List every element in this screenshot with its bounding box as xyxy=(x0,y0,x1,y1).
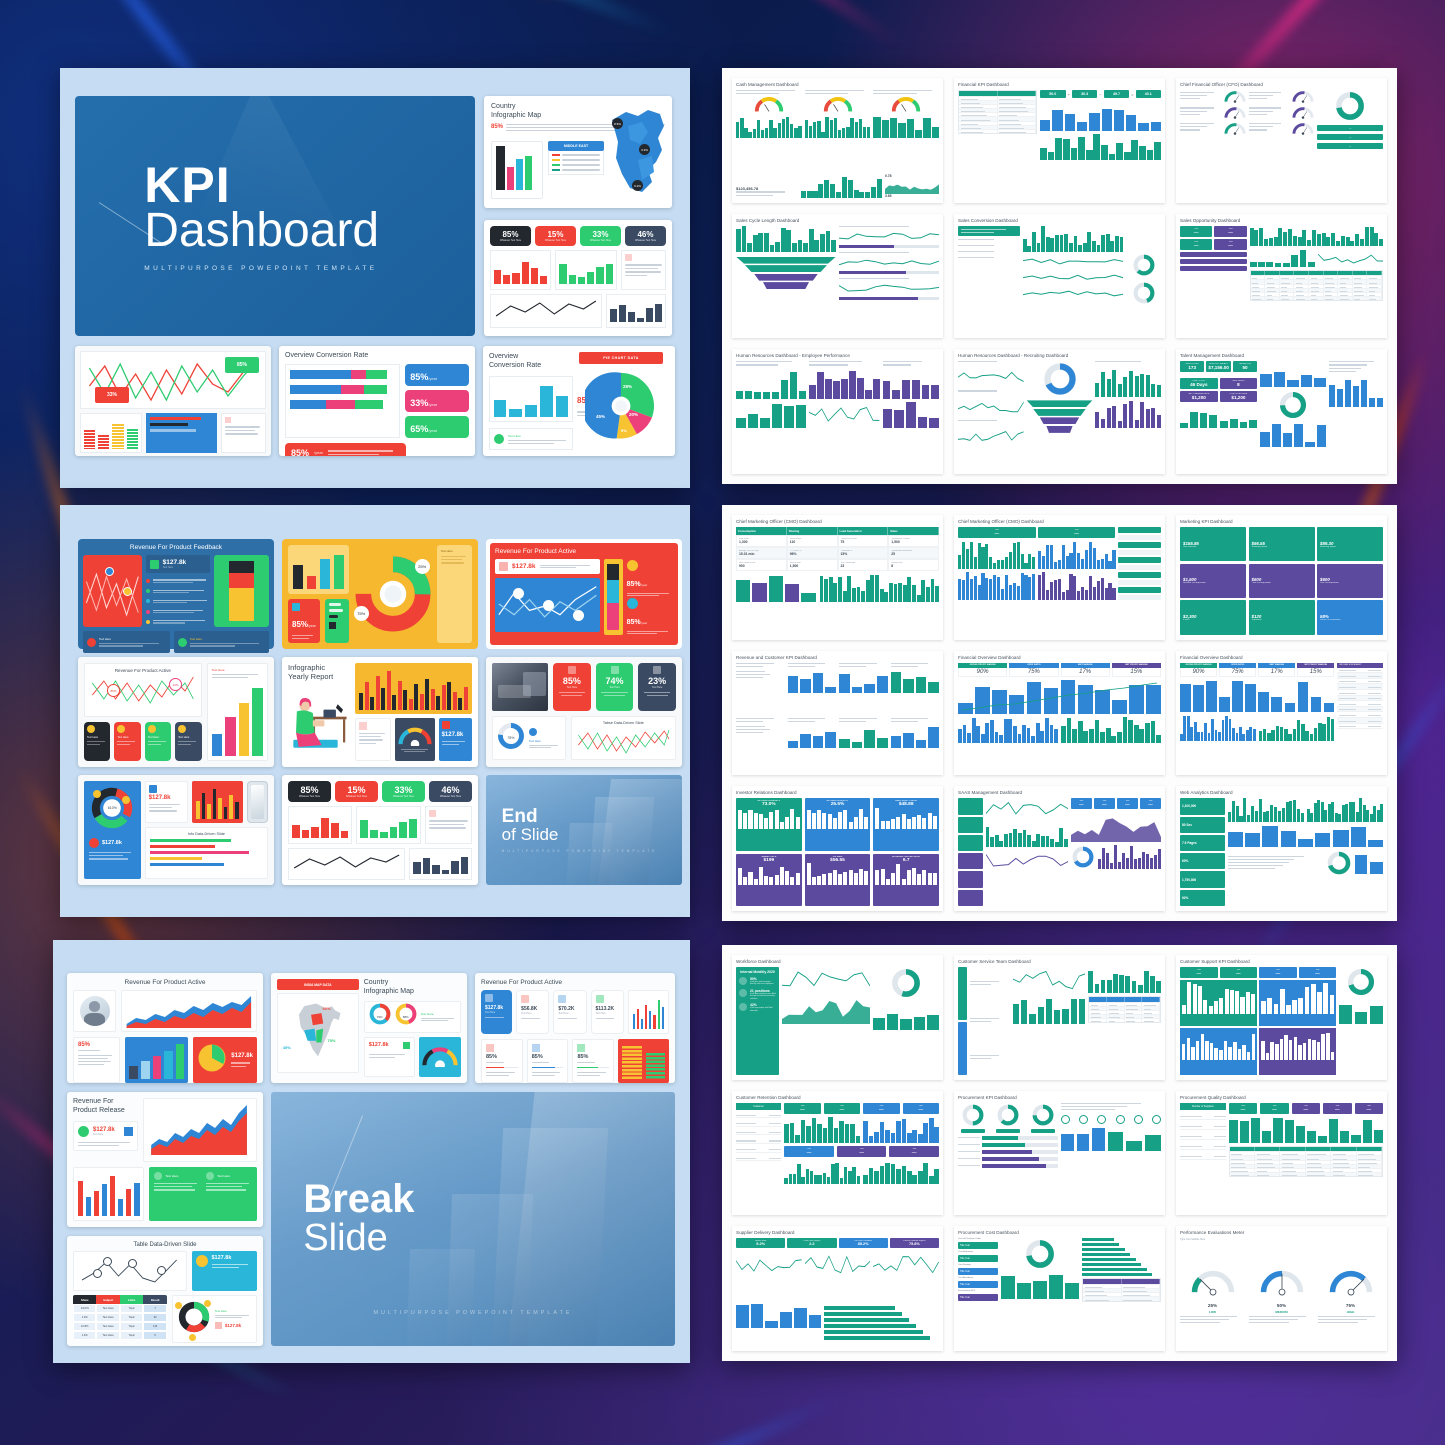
title-dashboard: Dashboard xyxy=(144,206,475,256)
slide-country-infographic-map-india[interactable]: INDIA MAP DATA 60% 75% 45% Count xyxy=(271,973,467,1083)
cmo-cell-value: 15% xyxy=(841,552,886,556)
kpi-chip[interactable]: MONTHLY SALARY$7,156.00 xyxy=(1206,361,1230,372)
slide-percent-cards-2[interactable]: 85% Whatever Text Here 15% Whatever Text… xyxy=(282,775,478,885)
equation-value: 30.3 xyxy=(1072,90,1097,98)
conversion-card-value: 33% xyxy=(410,398,428,408)
marketing-stat-label: 6 mnth xyxy=(1183,619,1243,621)
amount-value: $127.8k xyxy=(212,1255,254,1261)
funnel-chart xyxy=(1027,400,1093,433)
panel-colorful-slides: Revenue For Product Feedback $127.8k Tex… xyxy=(60,505,690,917)
conversion-card-value: 85% xyxy=(410,372,428,382)
kpi-chip[interactable]: Text— xyxy=(1140,798,1161,809)
slide-revenue-product-feedback[interactable]: Revenue For Product Feedback $127.8k Tex… xyxy=(78,539,274,649)
bar-chart xyxy=(1260,423,1326,447)
investor-kpi-card[interactable]: RETURN ON EQUITY25.5% xyxy=(805,798,871,850)
kpi-chip[interactable]: Text— xyxy=(837,1146,887,1157)
table-cell: 32 xyxy=(143,1313,166,1322)
dashboard-title: Chief Marketing Officer (CMO) Dashboard xyxy=(736,519,939,524)
amount-card: $127.8k xyxy=(495,559,600,574)
amount-sub: Text Here xyxy=(163,566,187,569)
dashboard-title: Sales Cycle Length Dashboard xyxy=(736,218,939,223)
financial-kpi[interactable]: OPEX RATIO75% xyxy=(1219,663,1256,677)
kpi-chip[interactable]: Text— xyxy=(1071,798,1092,809)
data-table xyxy=(958,90,1037,134)
dashboard-card[interactable]: Workforce DashboardInternal Mobility 202… xyxy=(732,955,943,1080)
bar-chart xyxy=(1329,377,1383,407)
india-label-75: 75% xyxy=(327,1038,335,1043)
kpi-chip-value: — xyxy=(1301,971,1335,976)
map-pin-1: 8.5% xyxy=(612,118,623,129)
line-chart xyxy=(288,848,405,880)
kpi-chip[interactable]: NET TRAINING DAYS$1,200 xyxy=(1180,391,1218,402)
kpi-chip[interactable]: VACANCIES50 xyxy=(1233,361,1257,372)
donut-value: 88% xyxy=(395,1003,417,1030)
info-card-title: Text Here xyxy=(178,736,198,739)
data-table xyxy=(1088,996,1161,1023)
dashboard-title: Human Resources Dashboard - Recruiting D… xyxy=(958,353,1161,358)
kpi-chip-value: 50 xyxy=(1235,365,1255,370)
financial-kpi[interactable]: GROSS PROFIT MARGIN90% xyxy=(958,663,1007,677)
kpi-chip[interactable]: Text— xyxy=(784,1146,834,1157)
equation-operator: = xyxy=(1131,92,1133,97)
progress-bar xyxy=(839,245,939,248)
conversion-card-value: 65% xyxy=(410,424,428,434)
kpi-chip[interactable]: Text— xyxy=(889,1146,939,1157)
stat-card[interactable]: 23% Text Here xyxy=(638,663,676,711)
text-lines xyxy=(1329,361,1383,373)
financial-kpi-value: 90% xyxy=(958,668,1007,677)
stat-sub: Text Here xyxy=(556,686,588,689)
panel-dashboards-teal: Cash Management Dashboard$123,456.780.78… xyxy=(722,68,1397,484)
cmo-table-header: Consumption xyxy=(736,527,787,535)
percent-value: 85% xyxy=(577,1054,609,1060)
procurement-cost-label: Cost Savings xyxy=(958,1264,998,1266)
dashboard-title: Cash Management Dashboard xyxy=(736,82,939,87)
dashboard-card[interactable]: Talent Management DashboardEMPLOYEES173M… xyxy=(1176,349,1387,474)
dashboard-card[interactable]: Sales Cycle Length Dashboard xyxy=(732,214,943,339)
kpi-chip[interactable]: Text— xyxy=(1260,1103,1288,1114)
break-subtitle: Slide xyxy=(303,1219,675,1259)
bar-chart xyxy=(1355,852,1383,874)
percent-card-sub: Whatever Text Here xyxy=(537,239,574,242)
yellow-note-card: Text Here xyxy=(437,545,472,643)
bar-chart xyxy=(736,574,816,602)
bar-chart xyxy=(1013,996,1086,1024)
kpi-chip[interactable]: Text— xyxy=(1094,798,1115,809)
info-card[interactable]: Text Here xyxy=(145,722,171,761)
india-label-60: 60% xyxy=(323,1006,331,1011)
kpi-chip-value: — xyxy=(1182,971,1216,976)
slide-info-data-driven[interactable]: 610% $127.8k $127.8k xyxy=(78,775,274,885)
dashboard-title: SAAS Management Dashboard xyxy=(958,790,1161,795)
kpi-chip-value: — xyxy=(826,1107,858,1112)
dashboard-card[interactable]: Supplier Delivery DashboardDefect Rate5.… xyxy=(732,1226,943,1351)
info-card[interactable]: Text Here xyxy=(84,722,110,761)
chart-note: Text Here xyxy=(212,668,263,672)
investor-kpi-card[interactable]: RETURN ON ASSETS73.0% xyxy=(736,798,802,850)
kpi-chip[interactable]: Text— xyxy=(903,1103,939,1114)
marketing-stat-label: Total Revenue xyxy=(1183,546,1243,548)
slide-percent-cards[interactable]: 85% Whatever Text Here 15% Whatever Text… xyxy=(484,220,672,336)
percent-value: 85% xyxy=(627,581,641,588)
slide-revenue-product-active-red[interactable]: Revenue For Product Active $127.8k xyxy=(486,539,682,649)
text-lines xyxy=(970,1055,1010,1061)
pie-amount-card: $127.8k xyxy=(193,1037,257,1083)
web-stat: 60% xyxy=(1180,853,1225,869)
slide-heading: OverviewConversion Rate xyxy=(489,352,579,370)
kpi-chip[interactable]: Text— xyxy=(863,1103,899,1114)
amount-value: $127.8k xyxy=(102,840,122,846)
blue-info-card xyxy=(146,413,218,453)
gauge-chart xyxy=(1292,90,1314,103)
bar-chart xyxy=(788,671,837,693)
meter-subtitle: Type Your Subtitle Here xyxy=(1180,1238,1383,1241)
cmo-cell-value: 25 xyxy=(891,552,936,556)
marketing-stat-card[interactable]: $600Cost Per Acquisition xyxy=(1317,564,1383,598)
kpi-chip[interactable]: Text— xyxy=(1180,239,1212,250)
dashboard-card[interactable]: Revenue and Customer KPI Dashboard xyxy=(732,651,943,776)
marketing-stat-card[interactable]: $155.85Total Revenue xyxy=(1180,527,1246,561)
dashboard-card[interactable]: Human Resources Dashboard - Employee Per… xyxy=(732,349,943,474)
amount-value: $127.8k xyxy=(442,732,469,738)
line-chart xyxy=(873,1251,939,1277)
table-cell: 1/1/2% xyxy=(73,1304,96,1313)
kpi-chip[interactable]: EMPLOYEES173 xyxy=(1180,361,1204,372)
slide-heading: Revenue For Product Active xyxy=(73,979,257,986)
marketing-stat-card[interactable]: $1,500Revenue Per Acquisition xyxy=(1180,564,1246,598)
kpi-chip-value: — xyxy=(1119,802,1136,807)
percent-card[interactable]: 85% Whatever Text Here xyxy=(288,781,331,802)
kpi-sub: Text Here xyxy=(558,1012,581,1015)
dashboard-title: Revenue and Customer KPI Dashboard xyxy=(736,655,939,660)
kpi-chip[interactable]: Text— xyxy=(1323,1103,1351,1114)
percent-card[interactable]: 46% Whatever Text Here xyxy=(625,226,666,246)
table-column-header: Subject xyxy=(96,1295,119,1304)
bar-chart xyxy=(807,863,869,885)
marketing-stat-card[interactable]: $120Acquisition xyxy=(1249,600,1315,634)
bar-chart xyxy=(1040,101,1161,131)
cmo-cell-value: 110 xyxy=(790,540,835,544)
dashboard-card[interactable]: Sales Opportunity DashboardText—Text—Tex… xyxy=(1176,214,1387,339)
slide-overview-conversion-rate-bars[interactable]: Overview Conversion Rate 85%/year 33%/ye xyxy=(279,346,475,456)
bar-chart xyxy=(1180,680,1334,712)
kpi-chip[interactable]: Text— xyxy=(1259,967,1297,978)
conversion-card[interactable]: 85%/year xyxy=(405,364,469,386)
dashboard-title: Procurement Quality Dashboard xyxy=(1180,1095,1383,1100)
dashboard-title: Workforce Dashboard xyxy=(736,959,939,964)
financial-kpi-value: 75% xyxy=(1219,668,1256,677)
bar-chart xyxy=(958,717,1058,743)
slide-revenue-active-multi[interactable]: Revenue For Product Active $127.8k Text … xyxy=(475,973,675,1083)
slide-table-data-driven-photo[interactable]: 85% Text Here 74% Text Here 23% Text Her… xyxy=(486,657,682,767)
dashboard-card[interactable]: Cash Management Dashboard$123,456.780.78… xyxy=(732,78,943,203)
bar-chart xyxy=(801,174,882,198)
table-row: 1.0%Text HereTopic32 xyxy=(73,1313,167,1322)
dashboard-title: Human Resources Dashboard - Employee Per… xyxy=(736,353,939,358)
text-lines xyxy=(1249,92,1290,101)
stat-sub: Text Here xyxy=(599,686,631,689)
financial-kpi[interactable]: NET PROFIT MARGIN15% xyxy=(1112,663,1161,677)
marketing-stat-card[interactable]: $89.30Marketing Spend xyxy=(1317,527,1383,561)
financial-kpi[interactable]: EBIT MARGIN17% xyxy=(1061,663,1110,677)
percent-col: 85% xyxy=(527,1039,569,1083)
area-chart xyxy=(885,178,939,194)
percent-card-value: 15% xyxy=(337,785,376,795)
yellow-donut-chart: 25% 75% xyxy=(354,545,432,643)
dashboard-card[interactable]: Customer Retention DashboardCustomerText… xyxy=(732,1091,943,1216)
supplier-kpi[interactable]: Defects without Impact75.8% xyxy=(890,1238,939,1248)
info-card[interactable]: Text Here xyxy=(114,722,140,761)
progress-bar xyxy=(982,1157,1058,1161)
procurement-cost-label: Cost Avoidance xyxy=(958,1277,998,1279)
kpi-chip[interactable]: Text— xyxy=(1214,226,1246,237)
slide-overview-conversion-rate-pie[interactable]: OverviewConversion Rate 85%/year Text He… xyxy=(483,346,675,456)
note-card xyxy=(355,718,390,761)
procurement-cost-row[interactable]: Title Year xyxy=(958,1242,998,1249)
kpi-chip-value: — xyxy=(1040,531,1114,536)
equation-value: 50.0 xyxy=(1040,90,1065,98)
dashboard-card[interactable]: Customer Service Team Dashboard xyxy=(954,955,1165,1080)
map-pin-3: 6.2% xyxy=(632,180,643,191)
financial-kpi[interactable]: EBIT MARGIN17% xyxy=(1258,663,1295,677)
marketing-stat-card[interactable]: $66.55Marketing Spend xyxy=(1249,527,1315,561)
slide-break[interactable]: Break Slide MULTIPURPOSE POWEPOINT TEMPL… xyxy=(271,1092,675,1346)
percent-card-value: 85% xyxy=(290,785,329,795)
workforce-panel: Internal Mobility 202050%of attrition an… xyxy=(736,967,779,1075)
amount-card: $127.8k Text Here xyxy=(73,1121,138,1151)
dashboard-card[interactable]: Performance Evaluations MeterType Your S… xyxy=(1176,1226,1387,1351)
cmo-cell-value: 1,500 xyxy=(790,564,835,568)
footer-title: Text Here xyxy=(99,637,166,641)
line-chart xyxy=(805,1251,871,1277)
percent-card[interactable]: 85% Whatever Text Here xyxy=(490,226,531,246)
kpi-chip[interactable]: Text— xyxy=(784,1103,820,1114)
procurement-cost-row[interactable]: Title Year xyxy=(958,1281,998,1288)
slide-heading: Revenue For Product Feedback xyxy=(83,544,269,551)
percent-card-row: 85% Whatever Text Here 15% Whatever Text… xyxy=(288,781,472,802)
progress-bar xyxy=(982,1164,1058,1168)
slide-line-chart-report[interactable]: 85% 33% xyxy=(75,346,271,456)
percent-card-sub: Whatever Text Here xyxy=(492,239,529,242)
green-bar-chart xyxy=(555,250,616,290)
kpi-chip[interactable]: Text— xyxy=(1299,967,1337,978)
procurement-cost-row[interactable]: Title Year xyxy=(958,1294,998,1301)
equation-value: 40.1 xyxy=(1136,90,1161,98)
kpi-chip[interactable]: Text— xyxy=(1292,1103,1320,1114)
kpi-chip[interactable]: Text— xyxy=(958,527,1036,538)
slide-title-kpi-dashboard[interactable]: KPI Dashboard MULTIPURPOSE POWEPOINT TEM… xyxy=(75,96,475,336)
kpi-chip[interactable]: Text— xyxy=(1180,967,1218,978)
green-note-card: Text Here Text Here xyxy=(149,1167,257,1221)
bar-chart xyxy=(1261,1030,1334,1060)
dashboard-card[interactable]: Sales Conversion Dashboard xyxy=(954,214,1165,339)
note-card xyxy=(221,413,266,453)
dashboard-card[interactable]: Human Resources Dashboard - Recruiting D… xyxy=(954,349,1165,474)
kpi-chip[interactable]: NEW HIRES8 xyxy=(1220,378,1258,389)
conversion-card[interactable]: 65%/year xyxy=(405,416,469,438)
text-lines xyxy=(1180,107,1221,116)
marketing-stat-card[interactable]: $2,3006 mnth xyxy=(1180,600,1246,634)
navy-bar-chart xyxy=(409,848,472,880)
bar-chart xyxy=(1180,715,1256,741)
text-lines xyxy=(1318,1316,1383,1325)
kpi-chip[interactable]: Text— xyxy=(1355,1103,1383,1114)
conversion-card[interactable]: 33%/year xyxy=(405,390,469,412)
bar-chart xyxy=(736,116,802,138)
grouped-bar-chart xyxy=(628,990,669,1034)
red-bar-chart xyxy=(288,806,352,844)
kpi-chip[interactable]: Text— xyxy=(1117,798,1138,809)
line-chart xyxy=(1023,255,1123,268)
gauge-value: 50% xyxy=(1277,1303,1286,1308)
financial-kpi[interactable]: NET PROFIT MARGIN15% xyxy=(1297,663,1334,677)
gauge-chart xyxy=(1292,106,1314,119)
text-lines xyxy=(958,251,1018,254)
procurement-cost-button: Title Year xyxy=(958,1294,998,1301)
gauge-chart xyxy=(1224,122,1246,135)
stat-card[interactable]: 85% Text Here xyxy=(553,663,591,711)
text-lines xyxy=(970,981,1010,987)
dashboard-card[interactable]: Procurement KPI Dashboard xyxy=(954,1091,1165,1216)
slide-yellow-donut-report[interactable]: 85%/year xyxy=(282,539,478,649)
end-title: End xyxy=(502,807,682,826)
kpi-chip[interactable]: COSTS PER HIRE$1,200 xyxy=(1220,391,1258,402)
progress-bar xyxy=(982,1136,1058,1140)
conversion-footer-card[interactable]: 85%/year xyxy=(285,443,406,456)
percent-card-sub: Whatever Text Here xyxy=(290,795,329,798)
financial-kpi[interactable]: OPEX RATIO75% xyxy=(1009,663,1058,677)
bar-chart xyxy=(875,807,937,829)
kpi-card[interactable]: $113.2K Text Here xyxy=(591,990,624,1034)
text-lines xyxy=(736,726,785,735)
map-bar-chart xyxy=(491,141,543,199)
dashboard-card[interactable]: Procurement Cost DashboardCost of Purcha… xyxy=(954,1226,1165,1351)
text-lines xyxy=(1249,123,1290,132)
supplier-kpi[interactable]: Lead Time (days)2.2 xyxy=(787,1238,836,1248)
procurement-cost-row[interactable]: Title Year xyxy=(958,1255,998,1262)
bar-chart xyxy=(738,807,800,829)
kpi-chip[interactable]: Text— xyxy=(1180,226,1212,237)
dashboard-card[interactable]: Financial Overview DashboardGROSS PROFIT… xyxy=(954,651,1165,776)
percent-card[interactable]: 15% Whatever Text Here xyxy=(535,226,576,246)
yearly-bar-chart xyxy=(355,663,472,714)
kpi-chip-value: — xyxy=(865,1107,897,1112)
slide-revenue-product-active-cards[interactable]: Revenue For Product Active 85% 44% Text … xyxy=(78,657,274,767)
slide-infographic-yearly-report[interactable]: InfographicYearly Report xyxy=(282,657,478,767)
investor-kpi-card[interactable]: DEBT EQUITY RATIO$48.88 xyxy=(873,798,939,850)
equation-row: 50.0+30.3−49.7=40.1 xyxy=(1040,90,1161,98)
slide-end-of-slide[interactable]: End of Slide MULTIPURPOSE POWEPOINT TEMP… xyxy=(486,775,682,885)
slide-revenue-product-release[interactable]: Revenue ForProduct Release $127.8k Text … xyxy=(67,1092,263,1227)
info-card[interactable]: Text Here xyxy=(175,722,201,761)
percent-value: 85% xyxy=(78,1042,115,1048)
supplier-kpi-value: 5.2% xyxy=(738,1242,783,1246)
dashboard-title: Customer Service Team Dashboard xyxy=(958,959,1161,964)
percent-card[interactable]: 33% Whatever Text Here xyxy=(382,781,425,802)
badge-red: 33% xyxy=(95,387,129,403)
dashboard-card[interactable]: Financial KPI Dashboard50.0+30.3−49.7=40… xyxy=(954,78,1165,203)
slide-revenue-active-area[interactable]: Revenue For Product Active 85% xyxy=(67,973,263,1083)
kpi-card[interactable]: $127.8k Text Here xyxy=(481,990,512,1034)
bar-chart xyxy=(1038,541,1115,569)
area-chart xyxy=(1071,812,1161,842)
dashboard-card[interactable]: Investor Relations DashboardRETURN ON AS… xyxy=(732,786,943,911)
investor-kpi-card[interactable]: WORKING CAPITAL RATIO6.7 xyxy=(873,854,939,906)
bar-chart xyxy=(788,726,837,748)
investor-kpi-card[interactable]: P/E Ratio$56.55 xyxy=(805,854,871,906)
phone-mockup xyxy=(247,781,268,823)
kpi-chip[interactable]: Text— xyxy=(1214,239,1246,250)
supplier-kpi[interactable]: On-Time Deadline85.2% xyxy=(839,1238,888,1248)
dashboard-card[interactable]: Financial Overview DashboardGROSS PROFIT… xyxy=(1176,651,1387,776)
conversion-card-unit: /year xyxy=(428,376,437,381)
percent-card[interactable]: 15% Whatever Text Here xyxy=(335,781,378,802)
dashboard-card[interactable]: Marketing KPI Dashboard$155.85Total Reve… xyxy=(1176,515,1387,640)
web-stat: 7.9 Pages xyxy=(1180,835,1225,851)
cmo-cell-value: 15.01 min xyxy=(739,552,784,556)
dashboard-card[interactable]: Chief Marketing Officer (CMO) DashboardT… xyxy=(954,515,1165,640)
line-chart xyxy=(1013,967,1086,993)
cash-metric: 3.65 xyxy=(885,194,939,198)
area-chart xyxy=(121,990,257,1032)
dashboard-card[interactable]: Customer Support KPI DashboardText—Text—… xyxy=(1176,955,1387,1080)
financial-kpi[interactable]: GROSS PROFIT MARGIN90% xyxy=(1180,663,1217,677)
bar-chart xyxy=(839,671,888,693)
percent-card[interactable]: 33% Whatever Text Here xyxy=(580,226,621,246)
note-card xyxy=(621,250,666,290)
text-lines xyxy=(958,420,1024,423)
bar-chart xyxy=(1095,400,1161,428)
table-cell: 5 xyxy=(143,1331,166,1340)
marketing-stat-card[interactable]: $600Profit Per Acquisition xyxy=(1249,564,1315,598)
kpi-card[interactable]: $70.2K Text Here xyxy=(553,990,586,1034)
slide-table-data-driven[interactable]: Table Data-Driven Slide $127.8k xyxy=(67,1236,263,1346)
cfo-badge: — xyxy=(1317,134,1383,140)
percent-card-red[interactable]: 85%/year xyxy=(288,599,320,643)
india-map-header: INDIA MAP DATA xyxy=(277,979,359,990)
supplier-kpi[interactable]: Defect Rate5.2% xyxy=(736,1238,785,1248)
dashboard-title: Chief Financial Officer (CFO) Dashboard xyxy=(1180,82,1383,87)
donut-chart xyxy=(996,1103,1020,1127)
dashboard-card[interactable]: Procurement Quality DashboardNumber of S… xyxy=(1176,1091,1387,1216)
procurement-cost-row[interactable]: Title Year xyxy=(958,1268,998,1275)
dashboard-card[interactable]: SAAS Management DashboardText—Text—Text—… xyxy=(954,786,1165,911)
kpi-chip[interactable]: Text— xyxy=(1038,527,1116,538)
marketing-stat-card[interactable]: 58%Return On Investment xyxy=(1317,600,1383,634)
kpi-chip[interactable]: Text— xyxy=(1229,1103,1257,1114)
stat-card[interactable]: 74% Text Here xyxy=(596,663,634,711)
dashboard-card[interactable]: Web Analytics Dashboard1,100,00080 Sec7.… xyxy=(1176,786,1387,911)
kpi-card[interactable]: $56.8K Text Here xyxy=(516,990,549,1034)
kpi-chip[interactable]: Text— xyxy=(824,1103,860,1114)
percent-card[interactable]: 46% Whatever Text Here xyxy=(429,781,472,802)
slide-country-infographic-map-middle-east[interactable]: CountryInfographic Map 85% MIDDLE EAST xyxy=(484,96,672,208)
funnel-chart xyxy=(736,257,836,290)
cfo-badge: — xyxy=(1317,125,1383,131)
gauge-chart xyxy=(805,96,871,114)
investor-kpi-card[interactable]: SHARE PRICE$199 xyxy=(736,854,802,906)
dashboard-card[interactable]: Chief Marketing Officer (CMO) DashboardC… xyxy=(732,515,943,640)
kpi-chip[interactable]: Text— xyxy=(1220,967,1258,978)
table-column-header: Share xyxy=(73,1295,96,1304)
amount-card-blue: $127.8k xyxy=(192,1251,258,1291)
badge-green: 85% xyxy=(225,357,259,373)
percent-col: 85% xyxy=(572,1039,614,1083)
marketing-stat-label: Acquisition xyxy=(1252,619,1312,621)
kpi-chip[interactable]: TIME TO FILL46 Days xyxy=(1180,378,1218,389)
dashboard-card[interactable]: Chief Financial Officer (CFO) Dashboard—… xyxy=(1176,78,1387,203)
line-chart xyxy=(809,402,879,426)
